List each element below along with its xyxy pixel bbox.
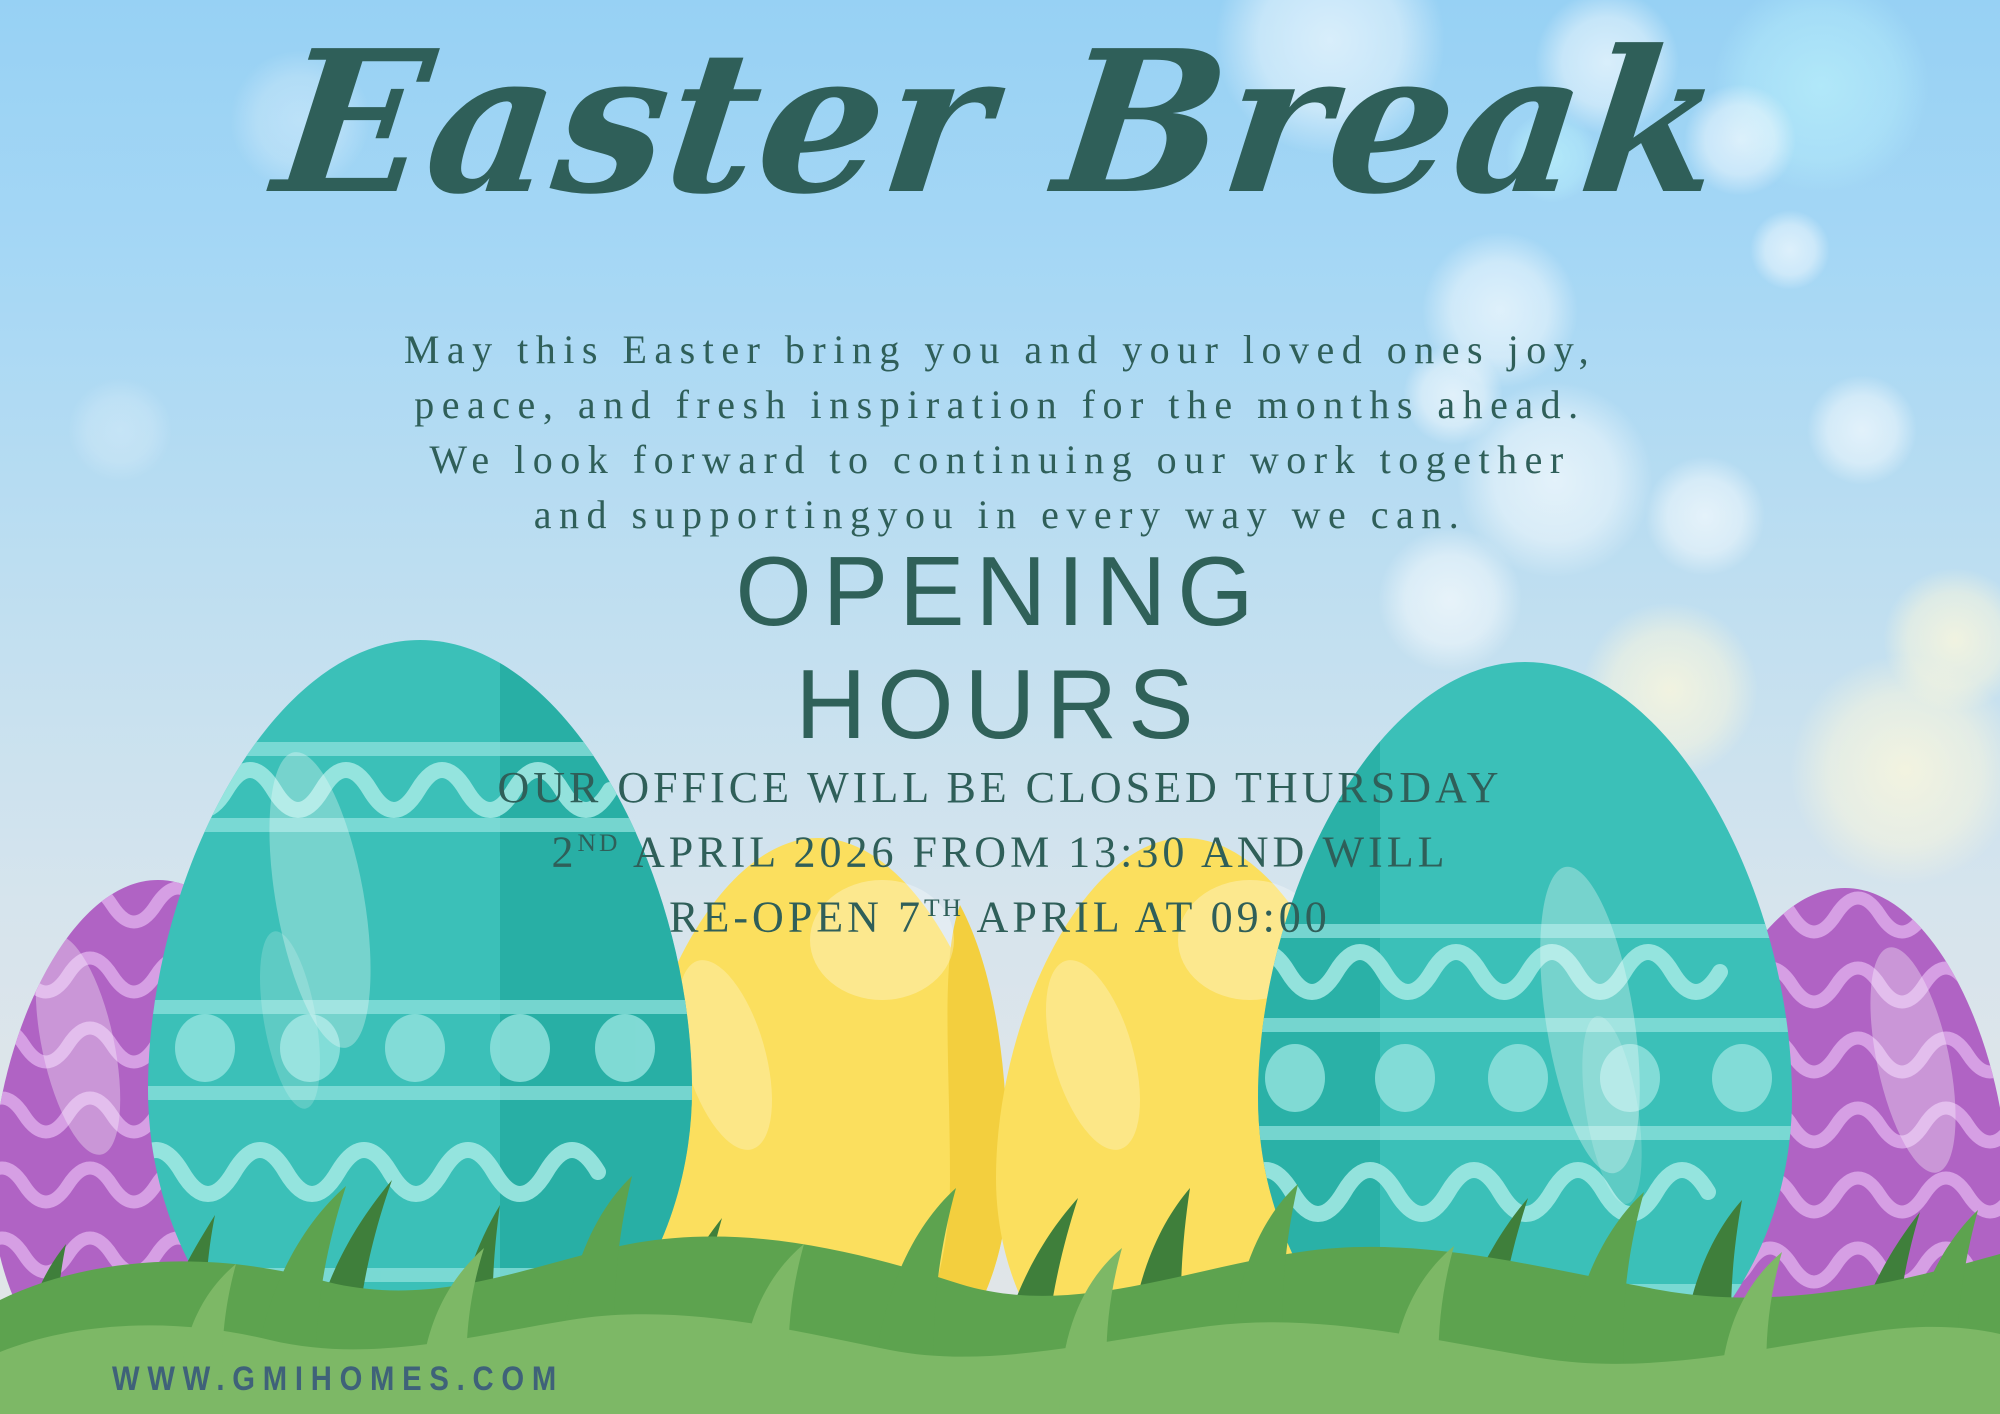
greeting-line-2: peace, and fresh inspiration for the mon… [0, 377, 2000, 432]
opening-hours-line-2: HOURS [0, 648, 2000, 761]
closure-date-rest: APRIL 2026 FROM 13:30 AND WILL [620, 828, 1448, 877]
closure-line-2: 2ND APRIL 2026 FROM 13:30 AND WILL [0, 815, 2000, 880]
easter-break-poster: Easter Break May this Easter bring you a… [0, 0, 2000, 1414]
greeting-message: May this Easter bring you and your loved… [0, 322, 2000, 542]
website-url[interactable]: WWW.GMIHOMES.COM [112, 1360, 564, 1399]
greeting-line-1: May this Easter bring you and your loved… [0, 322, 2000, 377]
opening-hours-line-1: OPENING [0, 535, 2000, 648]
closure-date-ordinal: ND [578, 828, 621, 857]
closure-line-1: OUR OFFICE WILL BE CLOSED THURSDAY [0, 760, 2000, 815]
reopen-rest: APRIL AT 09:00 [964, 892, 1331, 941]
reopen-ordinal: TH [924, 893, 964, 922]
page-title: Easter Break [0, 14, 2000, 234]
closure-line-3: RE-OPEN 7TH APRIL AT 09:00 [0, 880, 2000, 945]
greeting-line-3: We look forward to continuing our work t… [0, 432, 2000, 487]
greeting-line-4: and supportingyou in every way we can. [0, 487, 2000, 542]
reopen-prefix: RE-OPEN 7 [669, 892, 924, 941]
closure-date-day: 2 [552, 828, 578, 877]
closure-details: OUR OFFICE WILL BE CLOSED THURSDAY 2ND A… [0, 760, 2000, 944]
opening-hours-heading: OPENING HOURS [0, 535, 2000, 761]
